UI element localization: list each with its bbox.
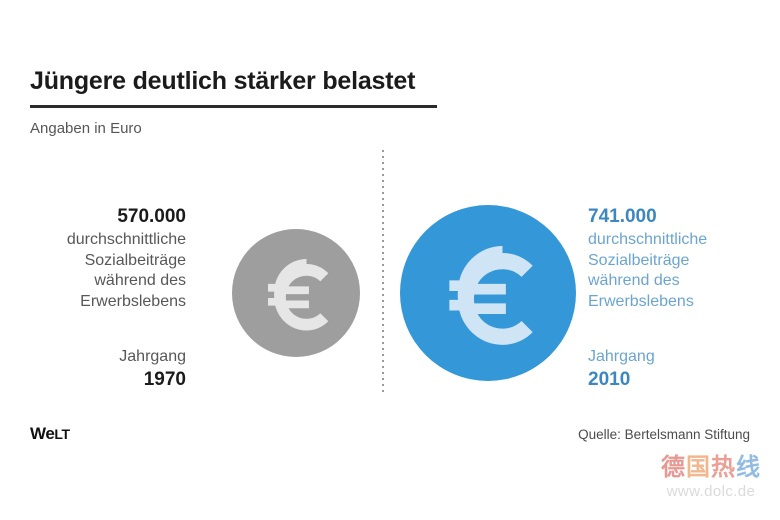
desc-line: Erwerbslebens [588, 292, 778, 313]
page-title: Jüngere deutlich stärker belastet [30, 68, 550, 96]
cohort-year-1970: 1970 [10, 368, 186, 392]
desc-line: Erwerbslebens [10, 292, 186, 313]
cohort-label-2010: Jahrgang [588, 347, 778, 368]
page-subtitle: Angaben in Euro [30, 120, 550, 138]
data-column-1970: 570.000 durchschnittliche Sozialbeiträge… [10, 205, 186, 391]
euro-coin-icon-gray [232, 229, 360, 357]
desc-line: durchschnittliche [10, 230, 186, 251]
desc-line: während des [10, 271, 186, 292]
welt-logo-l: L [54, 426, 61, 442]
watermark-char-2: 国 [686, 454, 711, 481]
data-column-2010: 741.000 durchschnittliche Sozialbeiträge… [588, 205, 778, 391]
title-underline-rule [30, 105, 437, 108]
watermark-char-1: 德 [661, 454, 686, 481]
watermark-char-4: 线 [736, 454, 761, 481]
watermark-url: www.dolc.de [648, 484, 774, 499]
desc-line: durchschnittliche [588, 230, 778, 251]
amount-description-2010: durchschnittliche Sozialbeiträge während… [588, 230, 778, 313]
infographic-canvas: Jüngere deutlich stärker belastet Angabe… [0, 0, 780, 520]
euro-coin-icon-blue [400, 205, 576, 381]
desc-line: Sozialbeiträge [588, 251, 778, 272]
vertical-dotted-divider [382, 150, 384, 392]
welt-logo-t: T [62, 426, 70, 442]
desc-line: während des [588, 271, 778, 292]
header-block: Jüngere deutlich stärker belastet Angabe… [30, 68, 550, 138]
desc-line: Sozialbeiträge [10, 251, 186, 272]
amount-value-1970: 570.000 [10, 205, 186, 229]
cohort-year-2010: 2010 [588, 368, 778, 392]
amount-value-2010: 741.000 [588, 205, 778, 229]
site-watermark: 德国热线 www.dolc.de [648, 456, 774, 514]
watermark-char-3: 热 [711, 454, 736, 481]
amount-description-1970: durchschnittliche Sozialbeiträge während… [10, 230, 186, 313]
welt-logo: WeLT [30, 424, 70, 444]
source-attribution: Quelle: Bertelsmann Stiftung [578, 427, 750, 442]
watermark-cjk-text: 德国热线 [648, 456, 774, 480]
cohort-label-1970: Jahrgang [10, 347, 186, 368]
welt-logo-w: W [30, 424, 45, 443]
